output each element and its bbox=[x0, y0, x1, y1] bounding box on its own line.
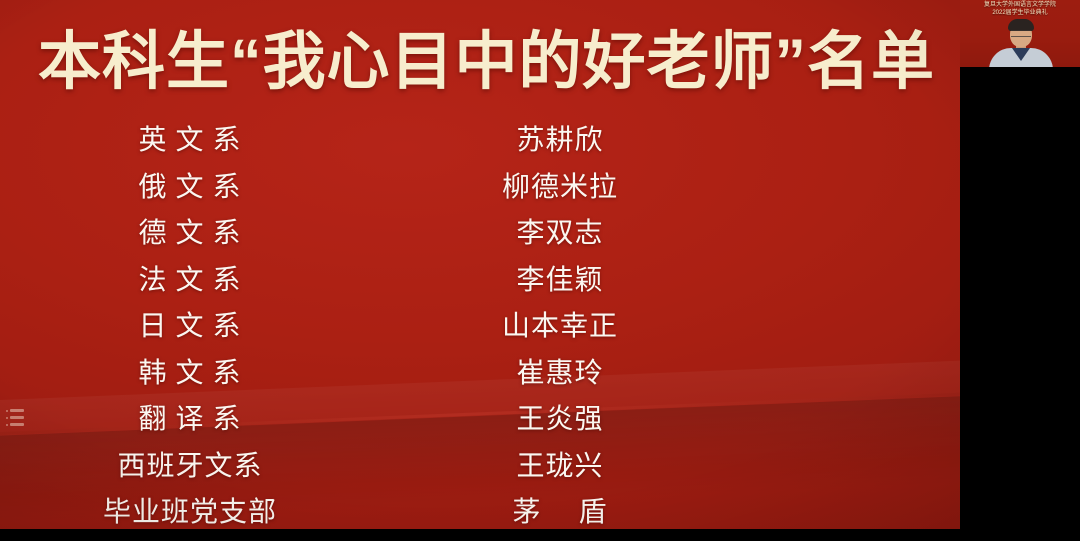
list-item: 德 文 系 李双志 bbox=[0, 211, 900, 258]
teacher-name: 李佳颖 bbox=[380, 264, 740, 298]
speaker-video-thumbnail[interactable]: 复旦大学外国语言文学学院 2022届学生毕业典礼 bbox=[960, 0, 1080, 67]
department-label: 韩 文 系 bbox=[0, 357, 380, 391]
list-item: 俄 文 系 柳德米拉 bbox=[0, 165, 900, 212]
list-icon-bar bbox=[10, 423, 24, 426]
speaker-collar-left bbox=[1012, 48, 1021, 61]
department-label: 日 文 系 bbox=[0, 310, 380, 344]
list-item: 翻 译 系 王炎强 bbox=[0, 397, 900, 444]
teacher-name: 苏耕欣 bbox=[380, 124, 740, 158]
glasses-icon bbox=[1011, 30, 1031, 37]
department-label: 德 文 系 bbox=[0, 217, 380, 251]
teacher-name: 柳德米拉 bbox=[380, 171, 740, 205]
honoree-list: 英 文 系 苏耕欣 俄 文 系 柳德米拉 德 文 系 李双志 法 文 系 李佳颖… bbox=[0, 118, 900, 529]
presentation-screen: 本科生“我心目中的好老师”名单 英 文 系 苏耕欣 俄 文 系 柳德米拉 德 文… bbox=[0, 0, 1080, 541]
list-item: 日 文 系 山本幸正 bbox=[0, 304, 900, 351]
video-caption: 复旦大学外国语言文学学院 2022届学生毕业典礼 bbox=[960, 1, 1080, 17]
video-caption-line2: 2022届学生毕业典礼 bbox=[960, 9, 1080, 17]
department-label: 法 文 系 bbox=[0, 264, 380, 298]
teacher-name: 李双志 bbox=[380, 217, 740, 251]
list-item: 英 文 系 苏耕欣 bbox=[0, 118, 900, 165]
bottom-letterbox bbox=[0, 529, 1080, 541]
department-label: 翻 译 系 bbox=[0, 403, 380, 437]
teacher-name: 崔惠玲 bbox=[380, 357, 740, 391]
list-item: 西班牙文系 王珑兴 bbox=[0, 444, 900, 491]
video-caption-line1: 复旦大学外国语言文学学院 bbox=[960, 1, 1080, 9]
list-icon-dot bbox=[6, 424, 8, 426]
list-icon-row bbox=[6, 416, 24, 419]
list-item: 毕业班党支部 茅 盾 bbox=[0, 490, 900, 529]
speaker-collar-right bbox=[1021, 48, 1030, 61]
list-icon-row bbox=[6, 423, 24, 426]
list-item: 韩 文 系 崔惠玲 bbox=[0, 351, 900, 398]
department-label: 毕业班党支部 bbox=[0, 496, 380, 529]
teacher-name: 山本幸正 bbox=[380, 310, 740, 344]
list-icon[interactable] bbox=[6, 409, 24, 426]
list-icon-dot bbox=[6, 410, 8, 412]
department-label: 俄 文 系 bbox=[0, 171, 380, 205]
side-panel bbox=[960, 0, 1080, 541]
teacher-name: 王珑兴 bbox=[380, 450, 740, 484]
slide-title: 本科生“我心目中的好老师”名单 bbox=[38, 22, 928, 102]
list-icon-bar bbox=[10, 409, 24, 412]
list-item: 法 文 系 李佳颖 bbox=[0, 258, 900, 305]
teacher-name: 王炎强 bbox=[380, 403, 740, 437]
list-icon-bar bbox=[10, 416, 24, 419]
department-label: 英 文 系 bbox=[0, 124, 380, 158]
slide-canvas: 本科生“我心目中的好老师”名单 英 文 系 苏耕欣 俄 文 系 柳德米拉 德 文… bbox=[0, 0, 960, 529]
list-icon-row bbox=[6, 409, 24, 412]
department-label: 西班牙文系 bbox=[0, 450, 380, 484]
teacher-name: 茅 盾 bbox=[380, 496, 740, 529]
list-icon-dot bbox=[6, 417, 8, 419]
